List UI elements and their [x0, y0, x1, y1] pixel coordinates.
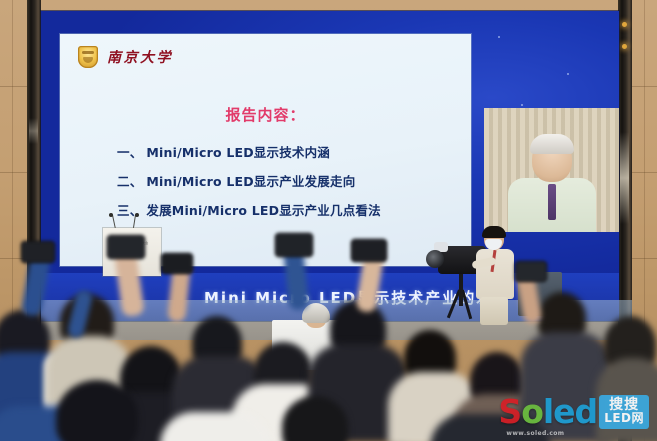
university-emblem-icon	[78, 46, 98, 68]
column-lamp	[622, 44, 627, 49]
list-item: 二、Mini/Micro LED显示产业发展走向	[117, 171, 381, 190]
easel-knob	[109, 213, 113, 217]
list-item: 三、发展Mini/Micro LED显示产业几点看法	[117, 200, 381, 219]
list-item-number: 二、	[117, 174, 142, 189]
slide-agenda-list: 一、Mini/Micro LED显示技术内涵 二、Mini/Micro LED显…	[117, 142, 381, 219]
soled-letter-o: o	[521, 392, 543, 431]
smartphone	[108, 236, 144, 258]
column-highlight	[620, 132, 629, 224]
soled-wordmark: Soled www.soled.com	[498, 395, 597, 428]
soled-badge: 搜搜 LED网	[599, 395, 649, 429]
badge-led-label: LED网	[604, 412, 644, 425]
list-item: 一、Mini/Micro LED显示技术内涵	[117, 142, 381, 161]
slide-logo: 南京大学	[78, 45, 173, 69]
cameraman-hair	[482, 226, 506, 238]
video-speaker-hair	[530, 134, 574, 154]
remote-speaker-video-inset	[484, 108, 619, 232]
smartphone	[516, 262, 546, 281]
soled-watermark: Soled www.soled.com 搜搜 LED网	[498, 395, 649, 429]
slide-divider	[69, 73, 467, 75]
badge-chinese-name: 搜搜	[609, 398, 639, 413]
audience-body	[160, 412, 270, 441]
list-item-text: 发展Mini/Micro LED显示产业几点看法	[146, 203, 380, 218]
conference-photo: 南京大学 报告内容： 一、Mini/Micro LED显示技术内涵 二、Mini…	[0, 0, 657, 441]
university-name: 南京大学	[107, 47, 173, 67]
soled-letters-led: led	[543, 392, 597, 431]
smartphone	[352, 240, 386, 261]
slide-title: 报告内容：	[60, 104, 471, 125]
smartphone	[162, 254, 192, 273]
list-item-text: Mini/Micro LED显示技术内涵	[146, 145, 330, 160]
easel-knob	[135, 213, 139, 217]
list-item-number: 一、	[117, 145, 142, 160]
smartphone	[276, 234, 312, 256]
list-item-text: Mini/Micro LED显示产业发展走向	[146, 174, 355, 189]
watermark-url: www.soled.com	[506, 431, 564, 437]
column-lamp	[622, 22, 627, 27]
soled-letter-s: S	[498, 392, 521, 431]
column-highlight	[29, 118, 38, 144]
smartphone	[22, 242, 54, 262]
video-speaker-tie	[548, 184, 556, 220]
